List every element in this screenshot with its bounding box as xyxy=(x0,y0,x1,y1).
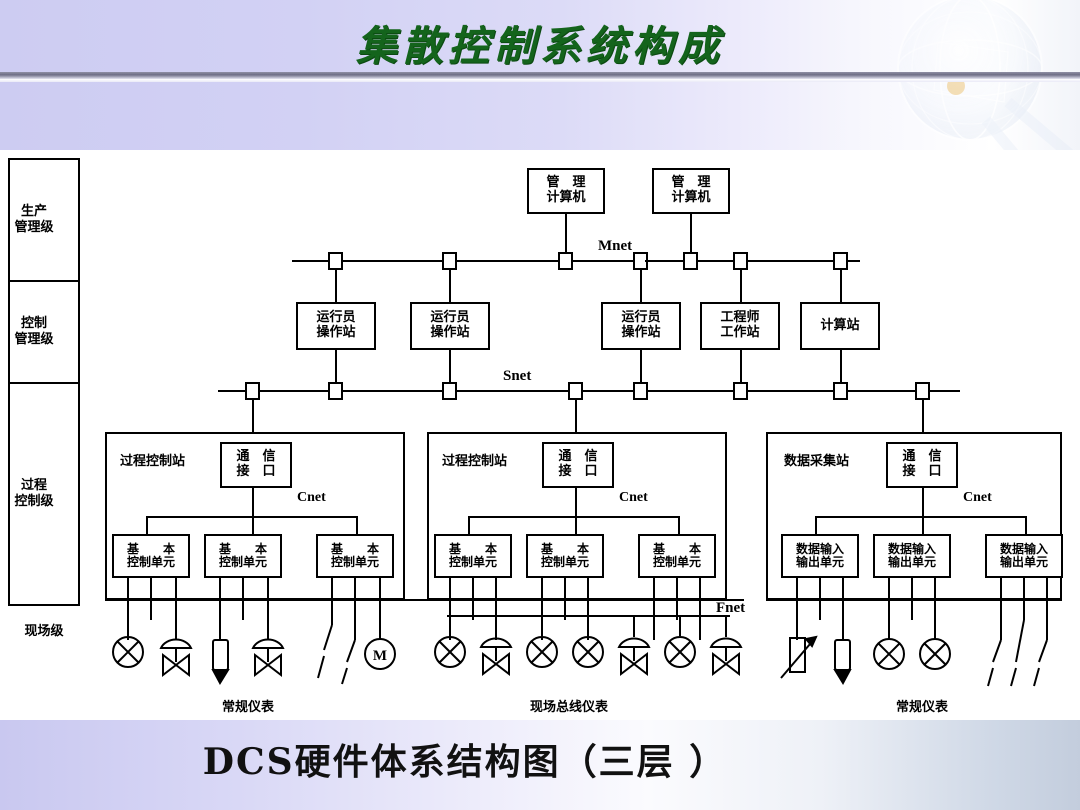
instrument-group-label-middle: 现场总线仪表 xyxy=(530,696,608,715)
thermowell-icon xyxy=(213,640,228,670)
motor-label: M xyxy=(373,648,387,664)
header-divider-highlight xyxy=(0,79,1080,82)
left-instrument-group xyxy=(113,625,395,684)
header-band: 集散控制系统构成 xyxy=(0,0,1080,150)
middle-instrument-group xyxy=(435,616,741,674)
page-caption: DCS硬件体系结构图（三层 ） xyxy=(0,733,1080,785)
slide: 集散控制系统构成 生产 管理级 控制 管理级 过程 控制级 现场级 xyxy=(0,0,1080,810)
valve-actuator-icon xyxy=(619,639,649,647)
dcs-architecture-diagram: 生产 管理级 控制 管理级 过程 控制级 现场级 管 理 计算机 管 理 计算机 xyxy=(0,150,1080,720)
instrument-group-label-left: 常规仪表 xyxy=(222,696,274,715)
field-instruments-layer: Fnet xyxy=(0,150,1080,720)
thermowell-icon xyxy=(835,640,850,670)
valve-actuator-icon xyxy=(161,640,191,648)
instrument-group-label-right: 常规仪表 xyxy=(896,696,948,715)
variable-resistor-icon xyxy=(790,638,805,672)
valve-actuator-icon xyxy=(253,640,283,648)
header-divider xyxy=(0,72,1080,79)
fnet-label: Fnet xyxy=(716,600,745,616)
page-title: 集散控制系统构成 xyxy=(0,12,1080,72)
right-instrument-group xyxy=(781,620,1047,686)
valve-actuator-icon xyxy=(711,639,741,647)
